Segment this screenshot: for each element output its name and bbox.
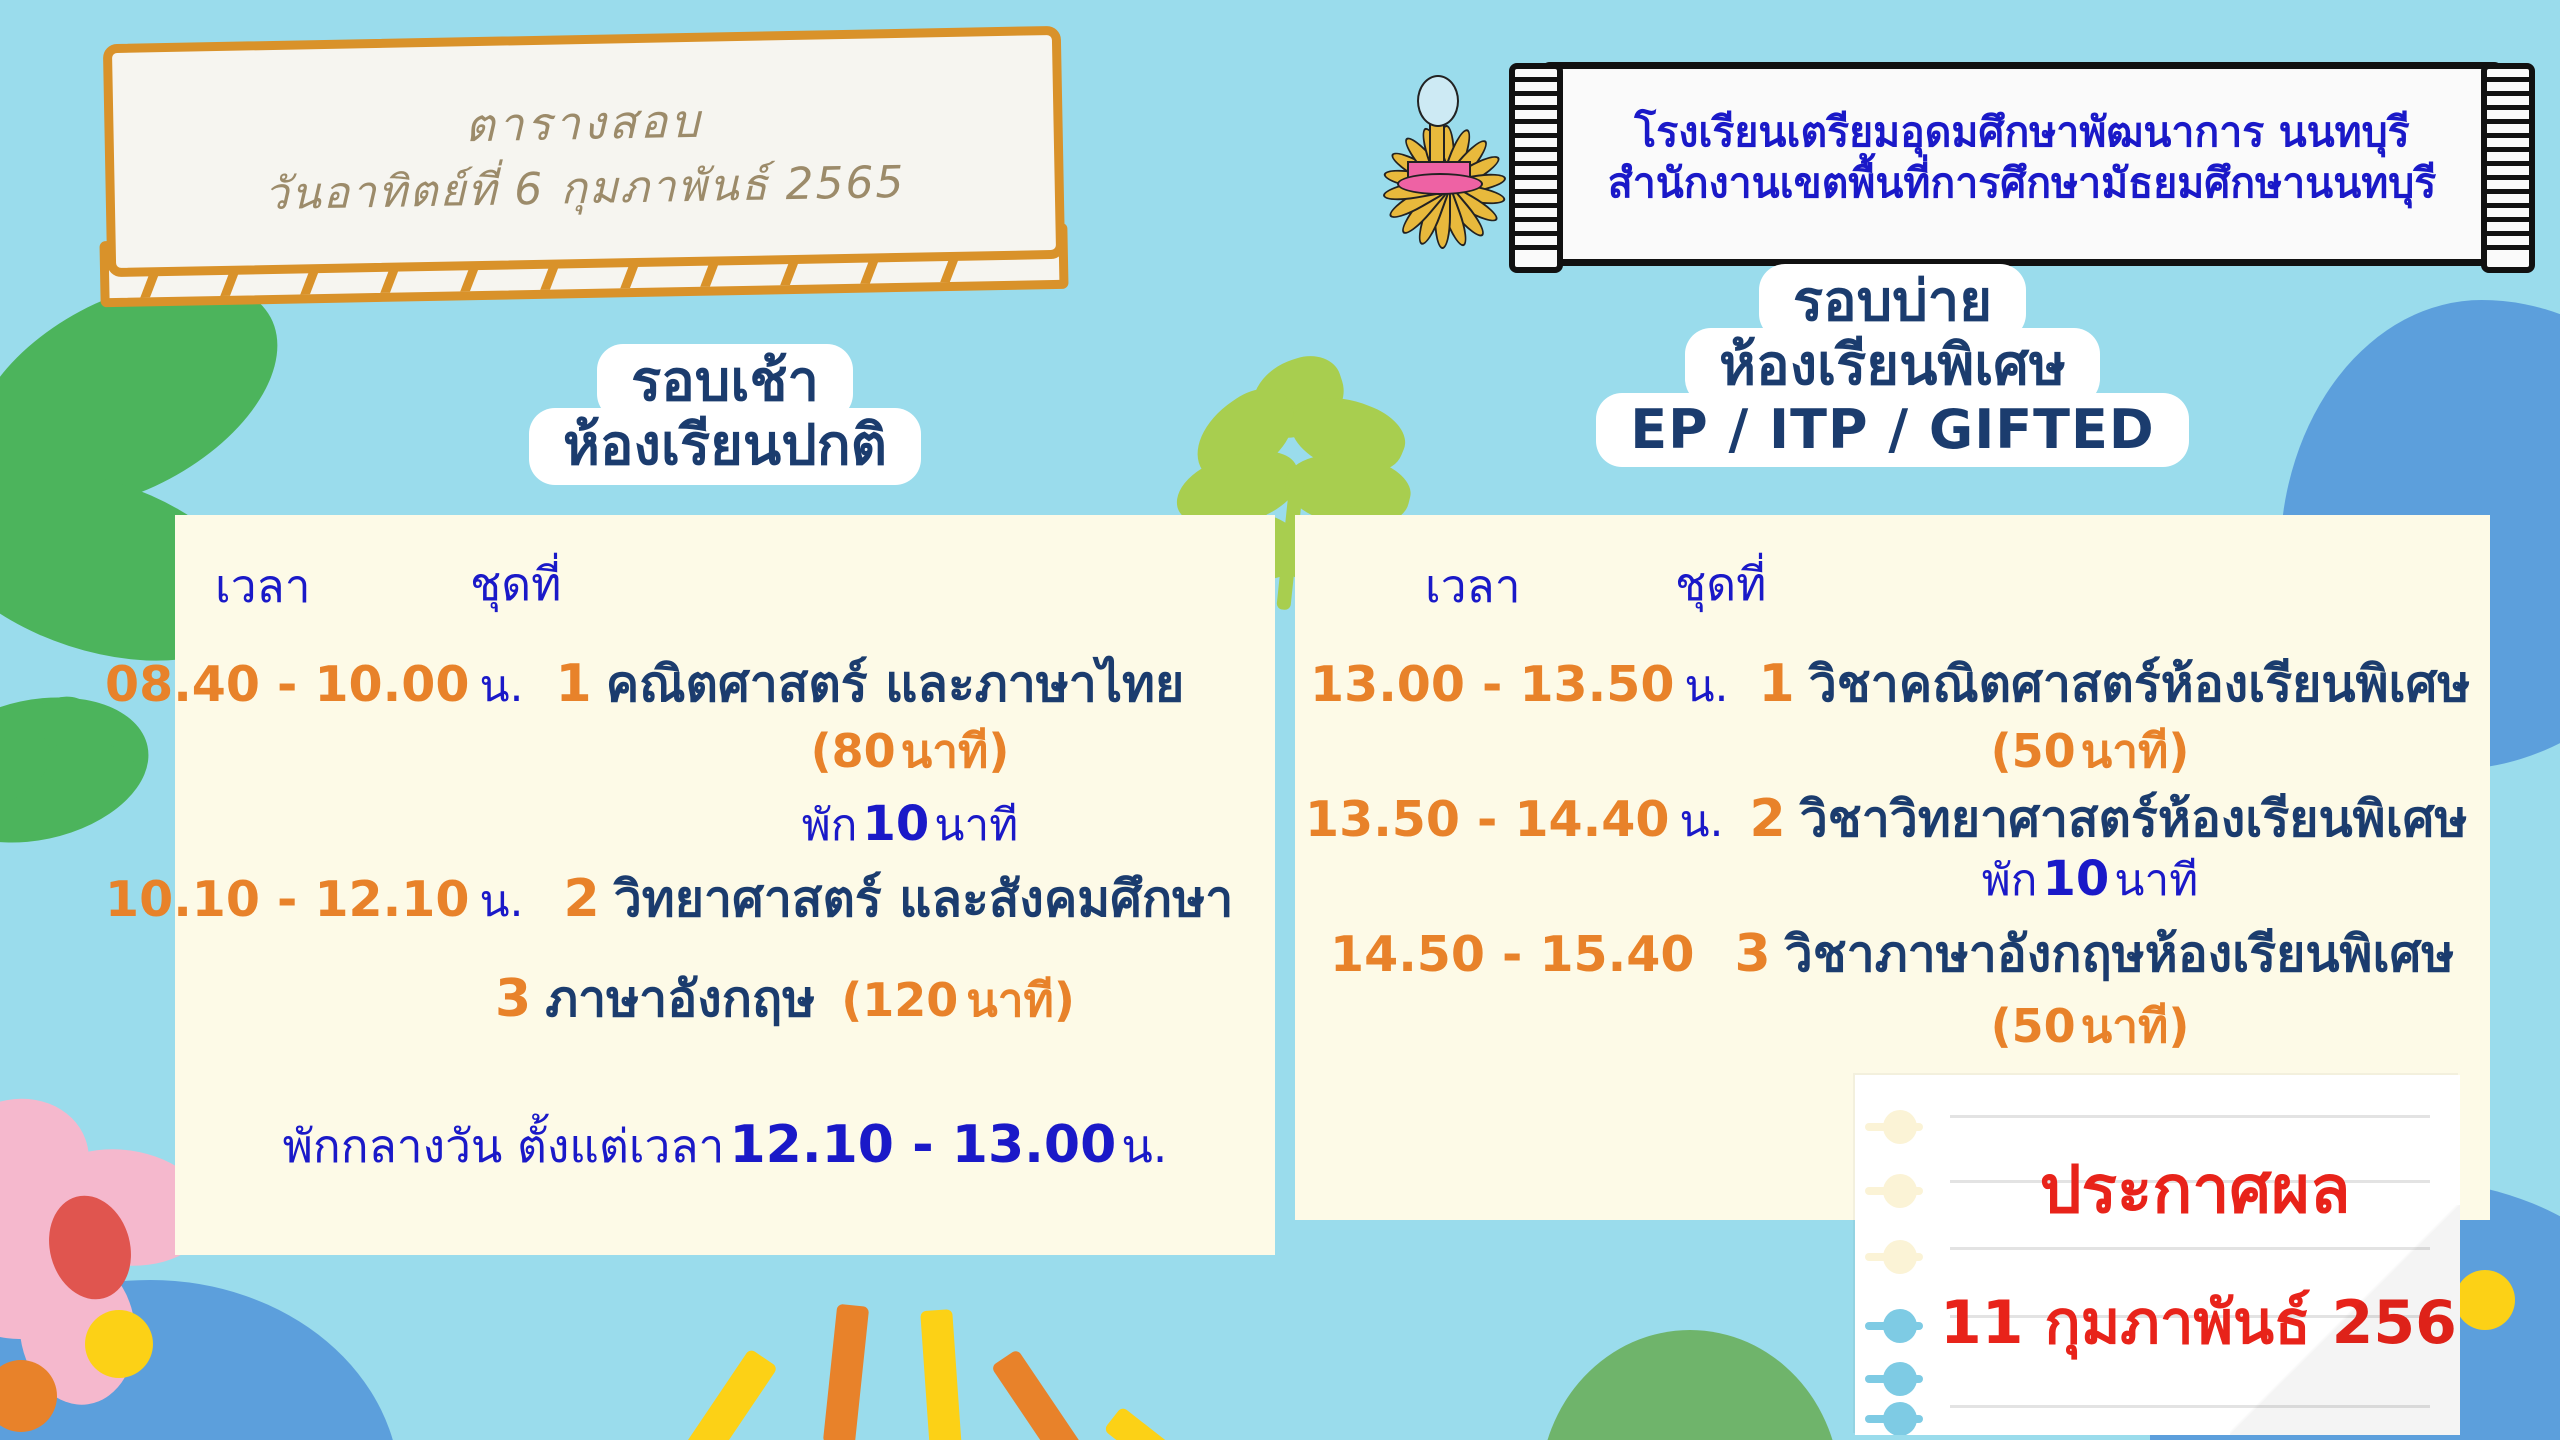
afternoon-row-set: 2 (1750, 789, 1786, 849)
morning-row-time: 10.10 - 12.10 (105, 871, 469, 928)
orange-dot (0, 1360, 57, 1432)
afternoon-row-time: 13.00 - 13.50 (1310, 656, 1674, 713)
ray-stick (666, 1348, 778, 1440)
afternoon-break-unit: นาที (2114, 855, 2198, 906)
ray-stick (1103, 1406, 1216, 1440)
blue-cloud-blob (0, 1280, 400, 1440)
lunch-value: 12.10 - 13.00 (730, 1115, 1117, 1175)
ray-stick (920, 1309, 962, 1440)
morning-row-set: 2 (564, 869, 600, 929)
school-crest-icon (1355, 45, 1520, 205)
morning-row-duration-unit: นาที) (901, 724, 1010, 778)
afternoon-row-duration-wrap: (50 นาที) (1740, 990, 2440, 1063)
morning-row-duration-wrap: (80 นาที) (560, 715, 1260, 788)
title-board: ตารางสอบ วันอาทิตย์ที่ 6 กุมภาพันธ์ 2565 (103, 26, 1065, 277)
afternoon-session-header: รอบบ่าย ห้องเรียนพิเศษ EP / ITP / GIFTED (1295, 270, 2490, 461)
page-fold-corner (2230, 1205, 2460, 1435)
afternoon-row-set: 3 (1734, 924, 1770, 984)
yellow-dot (85, 1310, 153, 1378)
poster-canvas: ตารางสอบ วันอาทิตย์ที่ 6 กุมภาพันธ์ 2565 (0, 0, 2560, 1440)
morning-header-line2: ห้องเรียนปกติ (529, 408, 921, 484)
morning-row-time: 08.40 - 10.00 (105, 656, 469, 713)
afternoon-row-time-unit: น. (1684, 651, 1728, 721)
morning-row: 3 ภาษาอังกฤษ (120 นาที) (495, 960, 1075, 1039)
school-name-line1: โรงเรียนเตรียมอุดมศึกษาพัฒนาการ นนทบุรี (1547, 107, 2497, 158)
morning-column-time: เวลา (215, 550, 311, 623)
lunch-unit: น. (1121, 1119, 1167, 1173)
school-name-banner: โรงเรียนเตรียมอุดมศึกษาพัฒนาการ นนทบุรี … (1540, 62, 2504, 266)
results-announcement-note: ประกาศผล 11 กุมภาพันธ์ 2565 (1855, 1075, 2460, 1435)
afternoon-column-set: ชุดที่ (1675, 548, 1766, 621)
afternoon-row-duration-unit: นาที) (2081, 724, 2190, 778)
afternoon-row-time: 13.50 - 14.40 (1305, 791, 1669, 848)
afternoon-row-time-unit: น. (1679, 786, 1723, 856)
afternoon-column-time: เวลา (1425, 550, 1521, 623)
morning-row-duration-unit: นาที) (966, 964, 1075, 1037)
afternoon-row-subject: วิชาคณิตศาสตร์ห้องเรียนพิเศษ (1809, 645, 2471, 724)
morning-row-set: 3 (495, 969, 531, 1029)
morning-column-set: ชุดที่ (470, 548, 561, 621)
morning-row: 10.10 - 12.10 น. 2 วิทยาศาสตร์ และสังคมศ… (105, 860, 1233, 939)
morning-row-set: 1 (556, 654, 592, 714)
morning-session-header: รอบเช้า ห้องเรียนปกติ (175, 350, 1275, 479)
afternoon-row-subject: วิชาภาษาอังกฤษห้องเรียนพิเศษ (1785, 915, 2455, 994)
school-name-line2: สำนักงานเขตพื้นที่การศึกษามัธยมศึกษานนทบ… (1547, 158, 2497, 209)
afternoon-row-duration: (50 (1991, 999, 2076, 1053)
afternoon-header-line3: EP / ITP / GIFTED (1596, 393, 2188, 467)
morning-row-subject: ภาษาอังกฤษ (545, 960, 815, 1039)
lunch-label: พักกลางวัน ตั้งแต่เวลา (283, 1119, 725, 1173)
morning-break-note: พัก 10 นาที (560, 790, 1260, 860)
afternoon-row-duration-wrap: (50 นาที) (1740, 715, 2440, 788)
green-hill-blob (1540, 1330, 1840, 1440)
morning-row-time-unit: น. (479, 651, 523, 721)
afternoon-row: 13.00 - 13.50 น. 1 วิชาคณิตศาสตร์ห้องเรี… (1310, 645, 2470, 724)
afternoon-break-value: 10 (2043, 851, 2110, 907)
morning-break-label: พัก (802, 800, 858, 851)
afternoon-row-set: 1 (1759, 654, 1795, 714)
afternoon-break-label: พัก (1982, 855, 2038, 906)
afternoon-break-note: พัก 10 นาที (1740, 845, 2440, 915)
ray-stick (823, 1304, 869, 1440)
morning-row-subject: คณิตศาสตร์ และภาษาไทย (606, 645, 1185, 724)
yellow-dot (2455, 1270, 2515, 1330)
morning-row-subject: วิทยาศาสตร์ และสังคมศึกษา (614, 860, 1234, 939)
afternoon-row-duration-unit: นาที) (2081, 999, 2190, 1053)
morning-break-unit: นาที (934, 800, 1018, 851)
morning-row: 08.40 - 10.00 น. 1 คณิตศาสตร์ และภาษาไทย (105, 645, 1184, 724)
morning-row-duration: (120 (841, 973, 958, 1027)
afternoon-row-time: 14.50 - 15.40 (1330, 926, 1694, 983)
afternoon-row-duration: (50 (1991, 724, 2076, 778)
morning-row-duration: (80 (811, 724, 896, 778)
afternoon-row: 14.50 - 15.40 3 วิชาภาษาอังกฤษห้องเรียนพ… (1330, 915, 2454, 994)
morning-lunch-note: พักกลางวัน ตั้งแต่เวลา 12.10 - 13.00 น. (175, 1110, 1275, 1183)
ray-stick (991, 1349, 1101, 1440)
morning-break-value: 10 (863, 796, 930, 852)
morning-row-time-unit: น. (479, 866, 523, 936)
